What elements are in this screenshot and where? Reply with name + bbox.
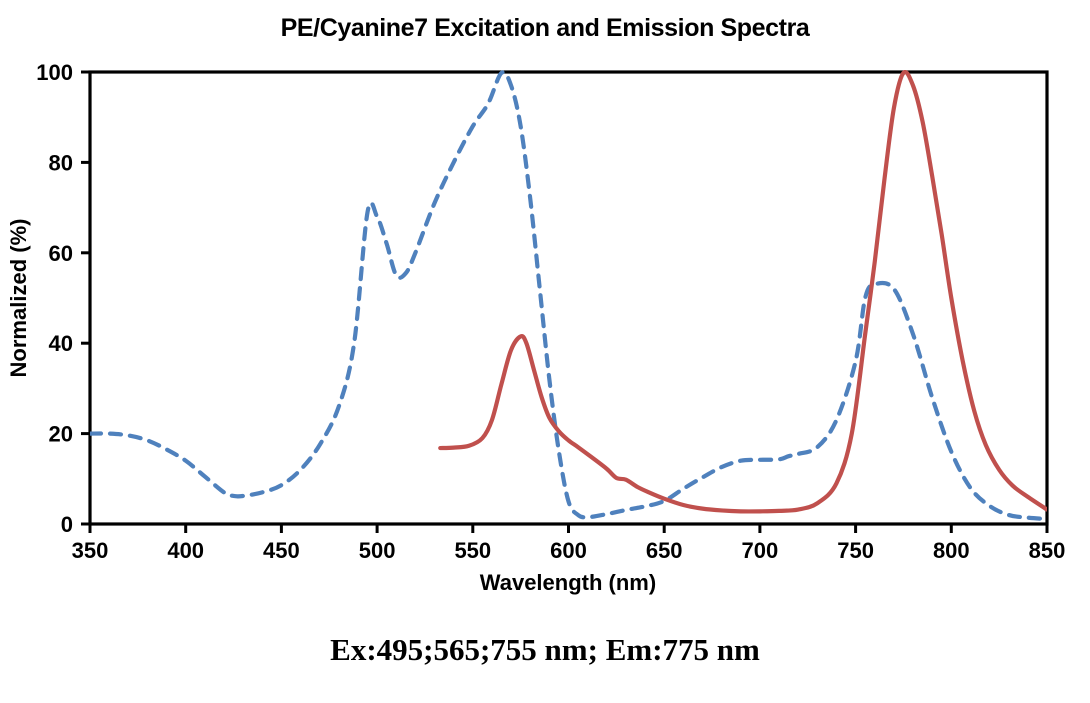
- x-tick-label: 700: [742, 538, 779, 563]
- x-axis-label: Wavelength (nm): [480, 570, 656, 595]
- x-tick-label: 400: [167, 538, 204, 563]
- y-tick-label: 40: [49, 331, 73, 356]
- x-tick-label: 450: [263, 538, 300, 563]
- spectra-figure: PE/Cyanine7 Excitation and Emission Spec…: [0, 0, 1090, 703]
- y-tick-label: 60: [49, 241, 73, 266]
- y-axis-label: Normalized (%): [6, 219, 31, 378]
- x-tick-label: 600: [550, 538, 587, 563]
- spectra-plot: 3504004505005506006507007508008500204060…: [0, 0, 1090, 703]
- x-tick-label: 800: [933, 538, 970, 563]
- x-tick-label: 500: [359, 538, 396, 563]
- x-tick-label: 650: [646, 538, 683, 563]
- x-tick-label: 350: [72, 538, 109, 563]
- y-tick-label: 100: [36, 60, 73, 85]
- y-tick-label: 0: [61, 512, 73, 537]
- plot-frame: [90, 72, 1047, 524]
- x-tick-label: 750: [837, 538, 874, 563]
- spectra-caption: Ex:495;565;755 nm; Em:775 nm: [0, 632, 1090, 668]
- y-tick-label: 20: [49, 422, 73, 447]
- x-tick-label: 550: [454, 538, 491, 563]
- x-tick-label: 850: [1029, 538, 1066, 563]
- y-tick-label: 80: [49, 150, 73, 175]
